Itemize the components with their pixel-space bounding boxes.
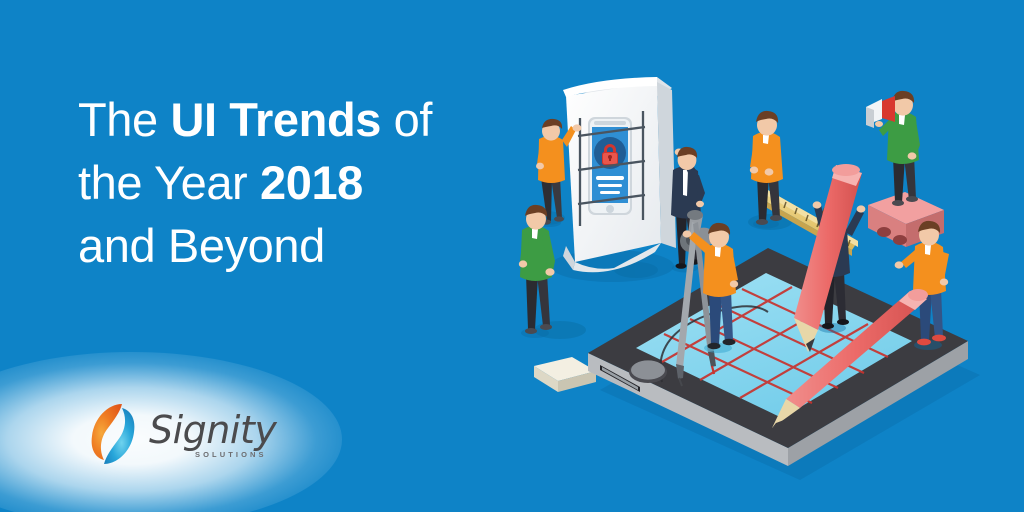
headline-line-3: and Beyond (78, 214, 432, 277)
headline-text-2018: 2018 (260, 156, 363, 209)
page-title: The UI Trends of the Year 2018 and Beyon… (78, 88, 432, 277)
headline-text-ui-trends: UI Trends (170, 93, 381, 146)
headline-line-1: The UI Trends of (78, 88, 432, 151)
worker-orange-ruler-left (750, 111, 783, 229)
logo[interactable]: Signity SOLUTIONS (82, 396, 282, 472)
eraser (534, 357, 596, 392)
paper-scroll-wireframe (536, 77, 705, 282)
headline-text-of: of (381, 93, 432, 146)
signity-logo-mark (82, 398, 144, 470)
worker-megaphone (866, 91, 920, 206)
logo-tagline: SOLUTIONS (195, 450, 267, 459)
headline-text-the-year: the Year (78, 156, 260, 209)
banner-root: The UI Trends of the Year 2018 and Beyon… (0, 0, 1024, 512)
logo-wordmark: Signity SOLUTIONS (149, 411, 276, 459)
headline-line-2: the Year 2018 (78, 151, 432, 214)
logo-name: Signity (149, 411, 276, 449)
headline-text-the: The (78, 93, 170, 146)
